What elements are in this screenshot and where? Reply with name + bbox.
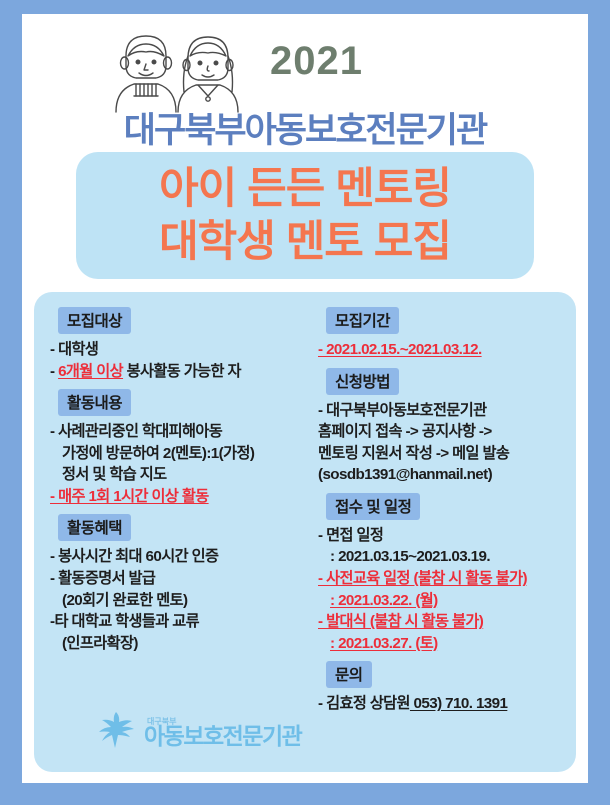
section-heading: 문의 <box>326 661 372 688</box>
section-lines: - 대구북부아동보호전문기관홈페이지 접속 -> 공지사항 ->멘토링 지원서 … <box>316 400 564 486</box>
info-line: - 사전교육 일정 (불참 시 활동 불가) <box>318 568 562 590</box>
info-line: 가정에 방문하여 2(멘토):1(가정) <box>50 443 314 465</box>
info-section-모집대상: 모집대상- 대학생- 6개월 이상 봉사활동 가능한 자 <box>48 302 316 382</box>
info-line: : 2021.03.15~2021.03.19. <box>318 546 562 568</box>
section-lines: - 대학생- 6개월 이상 봉사활동 가능한 자 <box>48 339 316 382</box>
frame-border-bottom <box>0 783 610 805</box>
info-line: : 2021.03.22. (월) <box>318 590 562 612</box>
left-info-column: 모집대상- 대학생- 6개월 이상 봉사활동 가능한 자활동내용- 사례관리중인… <box>48 302 316 656</box>
info-line: - 봉사시간 최대 60시간 인증 <box>50 546 314 568</box>
section-lines: - 김효정 상담원 053) 710. 1391 <box>316 693 564 715</box>
agency-logo: 대구북부 아동보호전문기관 <box>96 708 301 750</box>
bird-icon <box>96 708 138 750</box>
plain-text: - <box>50 363 58 380</box>
section-heading: 활동내용 <box>58 389 131 416</box>
info-line: - 6개월 이상 봉사활동 가능한 자 <box>50 361 314 383</box>
info-line: -타 대학교 학생들과 교류 <box>50 611 314 633</box>
section-lines: - 2021.02.15.~2021.03.12. <box>316 339 564 361</box>
info-line: : 2021.03.27. (토) <box>318 633 562 655</box>
title-banner: 아이 든든 멘토링 대학생 멘토 모집 <box>76 152 534 279</box>
title-line-2: 대학생 멘토 모집 <box>159 217 451 268</box>
right-info-column: 모집기간- 2021.02.15.~2021.03.12.신청방법- 대구북부아… <box>316 302 564 717</box>
info-section-접수-및-일정: 접수 및 일정- 면접 일정: 2021.03.15~2021.03.19.- … <box>316 488 564 654</box>
section-heading: 접수 및 일정 <box>326 493 420 520</box>
info-line: - 사례관리중인 학대피해아동 <box>50 421 314 443</box>
info-line: - 대학생 <box>50 339 314 361</box>
info-line: - 매주 1회 1시간 이상 활동 <box>50 486 314 508</box>
info-section-모집기간: 모집기간- 2021.02.15.~2021.03.12. <box>316 302 564 361</box>
section-heading: 모집대상 <box>58 307 131 334</box>
organization-name: 대구북부아동보호전문기관 <box>22 102 588 153</box>
content-panel: 모집대상- 대학생- 6개월 이상 봉사활동 가능한 자활동내용- 사례관리중인… <box>34 292 576 772</box>
section-heading: 모집기간 <box>326 307 399 334</box>
poster-root: 2021 대구북부아동보호전문기관 아이 든든 멘토링 대학생 멘토 모집 모집… <box>0 0 610 805</box>
section-lines: - 봉사시간 최대 60시간 인증- 활동증명서 발급(20회기 완료한 멘토)… <box>48 546 316 654</box>
contact-name: - 김효정 상담원 <box>318 695 410 712</box>
info-line: - 김효정 상담원 053) 710. 1391 <box>318 693 562 715</box>
poster-header: 2021 대구북부아동보호전문기관 <box>22 14 588 139</box>
info-line: 홈페이지 접속 -> 공지사항 -> <box>318 421 562 443</box>
info-line: - 발대식 (불참 시 활동 불가) <box>318 611 562 633</box>
info-line: 정서 및 학습 지도 <box>50 464 314 486</box>
info-line: - 면접 일정 <box>318 525 562 547</box>
highlighted-text: 6개월 이상 <box>58 363 123 380</box>
logo-title: 아동보호전문기관 <box>144 725 301 748</box>
info-section-활동혜택: 활동혜택- 봉사시간 최대 60시간 인증- 활동증명서 발급(20회기 완료한… <box>48 509 316 654</box>
frame-border-top <box>0 0 610 14</box>
info-section-활동내용: 활동내용- 사례관리중인 학대피해아동가정에 방문하여 2(멘토):1(가정)정… <box>48 384 316 507</box>
info-line: - 활동증명서 발급 <box>50 568 314 590</box>
section-lines: - 면접 일정: 2021.03.15~2021.03.19.- 사전교육 일정… <box>316 525 564 654</box>
info-line: - 대구북부아동보호전문기관 <box>318 400 562 422</box>
info-line: - 2021.02.15.~2021.03.12. <box>318 339 562 361</box>
info-line: (인프라확장) <box>50 633 314 655</box>
info-line: (sosdb1391@hanmail.net) <box>318 464 562 486</box>
plain-text: 봉사활동 가능한 자 <box>123 363 241 380</box>
info-line: 멘토링 지원서 작성 -> 메일 발송 <box>318 443 562 465</box>
frame-border-left <box>0 0 22 805</box>
info-section-문의: 문의- 김효정 상담원 053) 710. 1391 <box>316 656 564 715</box>
frame-border-right <box>588 0 610 805</box>
info-line: (20회기 완료한 멘토) <box>50 590 314 612</box>
section-heading: 신청방법 <box>326 368 399 395</box>
section-heading: 활동혜택 <box>58 514 131 541</box>
info-section-신청방법: 신청방법- 대구북부아동보호전문기관홈페이지 접속 -> 공지사항 ->멘토링 … <box>316 363 564 486</box>
contact-phone: 053) 710. 1391 <box>410 695 507 712</box>
section-lines: - 사례관리중인 학대피해아동가정에 방문하여 2(멘토):1(가정)정서 및 … <box>48 421 316 507</box>
poster-year: 2021 <box>270 39 363 84</box>
title-line-1: 아이 든든 멘토링 <box>159 164 451 215</box>
